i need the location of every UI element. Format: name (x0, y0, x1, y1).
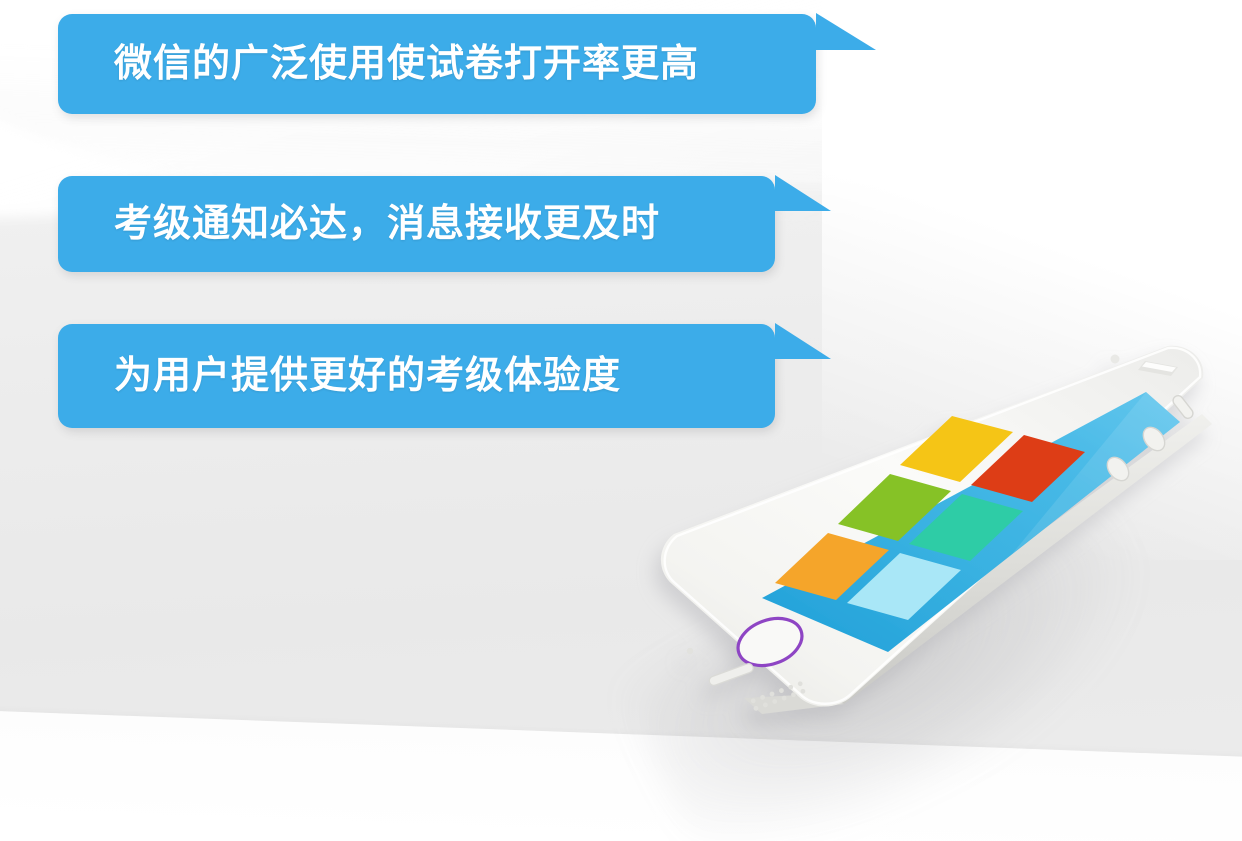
speech-bubble-2[interactable]: 考级通知必达，消息接收更及时 (58, 176, 775, 272)
background-right-glow (822, 0, 1242, 560)
speech-bubble-3-text: 为用户提供更好的考级体验度 (114, 357, 621, 395)
speech-bubble-1[interactable]: 微信的广泛使用使试卷打开率更高 (58, 14, 816, 114)
speech-bubble-3[interactable]: 为用户提供更好的考级体验度 (58, 324, 775, 428)
promo-scene: 微信的广泛使用使试卷打开率更高 考级通知必达，消息接收更及时 为用户提供更好的考… (0, 0, 1242, 841)
speech-bubble-2-text: 考级通知必达，消息接收更及时 (114, 205, 660, 243)
speech-bubble-1-text: 微信的广泛使用使试卷打开率更高 (114, 45, 699, 83)
